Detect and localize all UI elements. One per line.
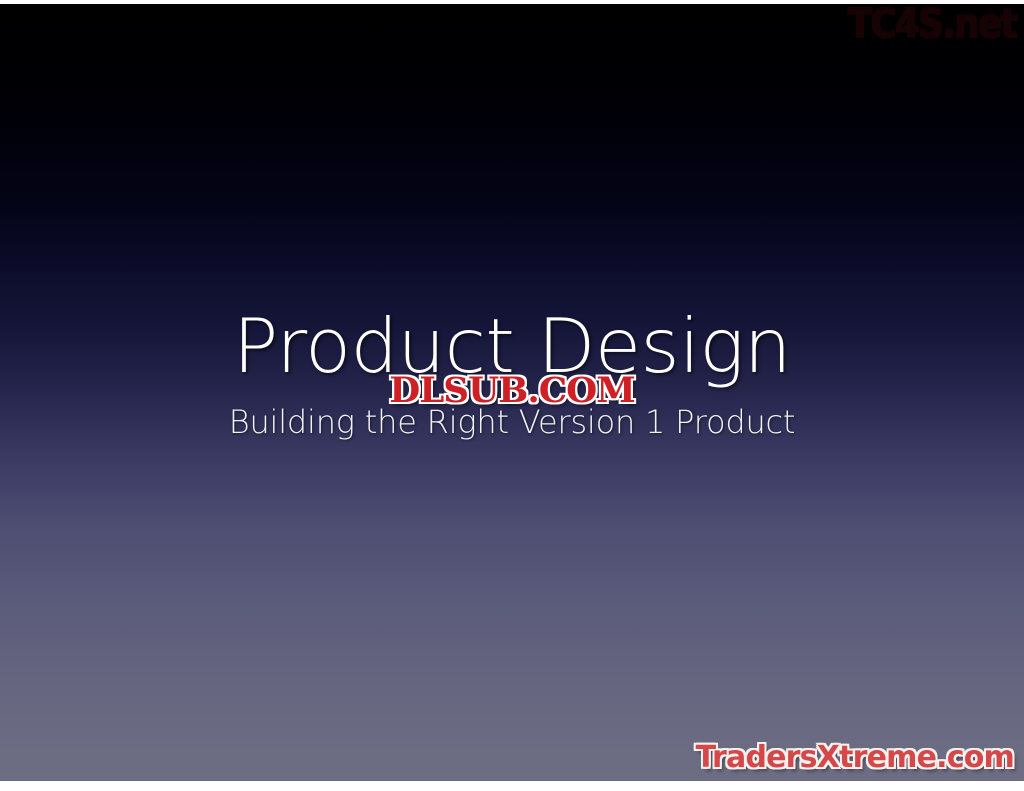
presentation-slide: Product Design Building the Right Versio… (0, 0, 1024, 791)
watermark-dlsub: DLSUB.COM (389, 372, 634, 410)
watermark-tc4s: TC4S.net (848, 2, 1016, 46)
watermark-tradersxtreme: TradersXtreme.com (696, 741, 1014, 775)
slide-bottom-border (0, 781, 1024, 791)
